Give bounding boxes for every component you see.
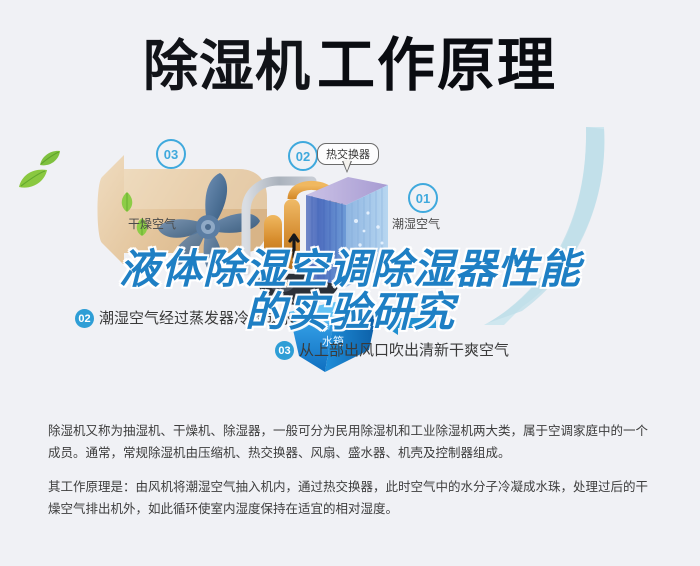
step-badge-03: 03: [275, 341, 294, 360]
callout-heat-exchanger-label: 热交换器: [326, 148, 370, 161]
marker-01: 01: [408, 183, 438, 213]
leaf-icon: [18, 167, 48, 191]
step-caption-03: 03从上部出风口吹出清新干爽空气: [275, 339, 509, 360]
heat-exchanger-icon: [300, 165, 390, 295]
label-humid-air: 潮湿空气: [392, 215, 440, 232]
page-title-part-2: 工作原理: [317, 31, 557, 99]
body-copy: 除湿机又称为抽湿机、干燥机、除湿器，一般可分为民用除湿机和工业除湿机两大类，属于…: [48, 420, 660, 520]
callout-heat-exchanger: 热交换器: [317, 143, 379, 165]
step-text-02: 潮湿空气经过蒸发器冷凝成水珠: [99, 309, 309, 327]
page-title: 除湿机工作原理: [0, 18, 700, 102]
page-title-part-1: 除湿机: [143, 34, 311, 98]
label-dry-air: 干燥空气: [128, 215, 176, 232]
marker-02: 02: [288, 141, 318, 171]
step-caption-02: 02潮湿空气经过蒸发器冷凝成水珠: [75, 307, 309, 328]
step-badge-02: 02: [75, 309, 94, 328]
dehumidifier-diagram: 03 02 01 热交换器 干燥空气 潮湿空气 水箱 02潮湿空气经过蒸发器冷凝…: [0, 125, 700, 415]
body-paragraph-2: 其工作原理是：由风机将潮湿空气抽入机内，通过热交换器，此时空气中的水分子冷凝成水…: [48, 476, 660, 520]
page-root: 除湿机工作原理: [0, 0, 700, 566]
step-text-03: 从上部出风口吹出清新干爽空气: [299, 341, 509, 359]
marker-03: 03: [156, 139, 186, 169]
body-paragraph-1: 除湿机又称为抽湿机、干燥机、除湿器，一般可分为民用除湿机和工业除湿机两大类，属于…: [48, 420, 660, 464]
air-inlet-arrow-icon: [378, 310, 438, 336]
leaf-icon: [118, 191, 136, 213]
leaf-icon: [38, 149, 62, 169]
